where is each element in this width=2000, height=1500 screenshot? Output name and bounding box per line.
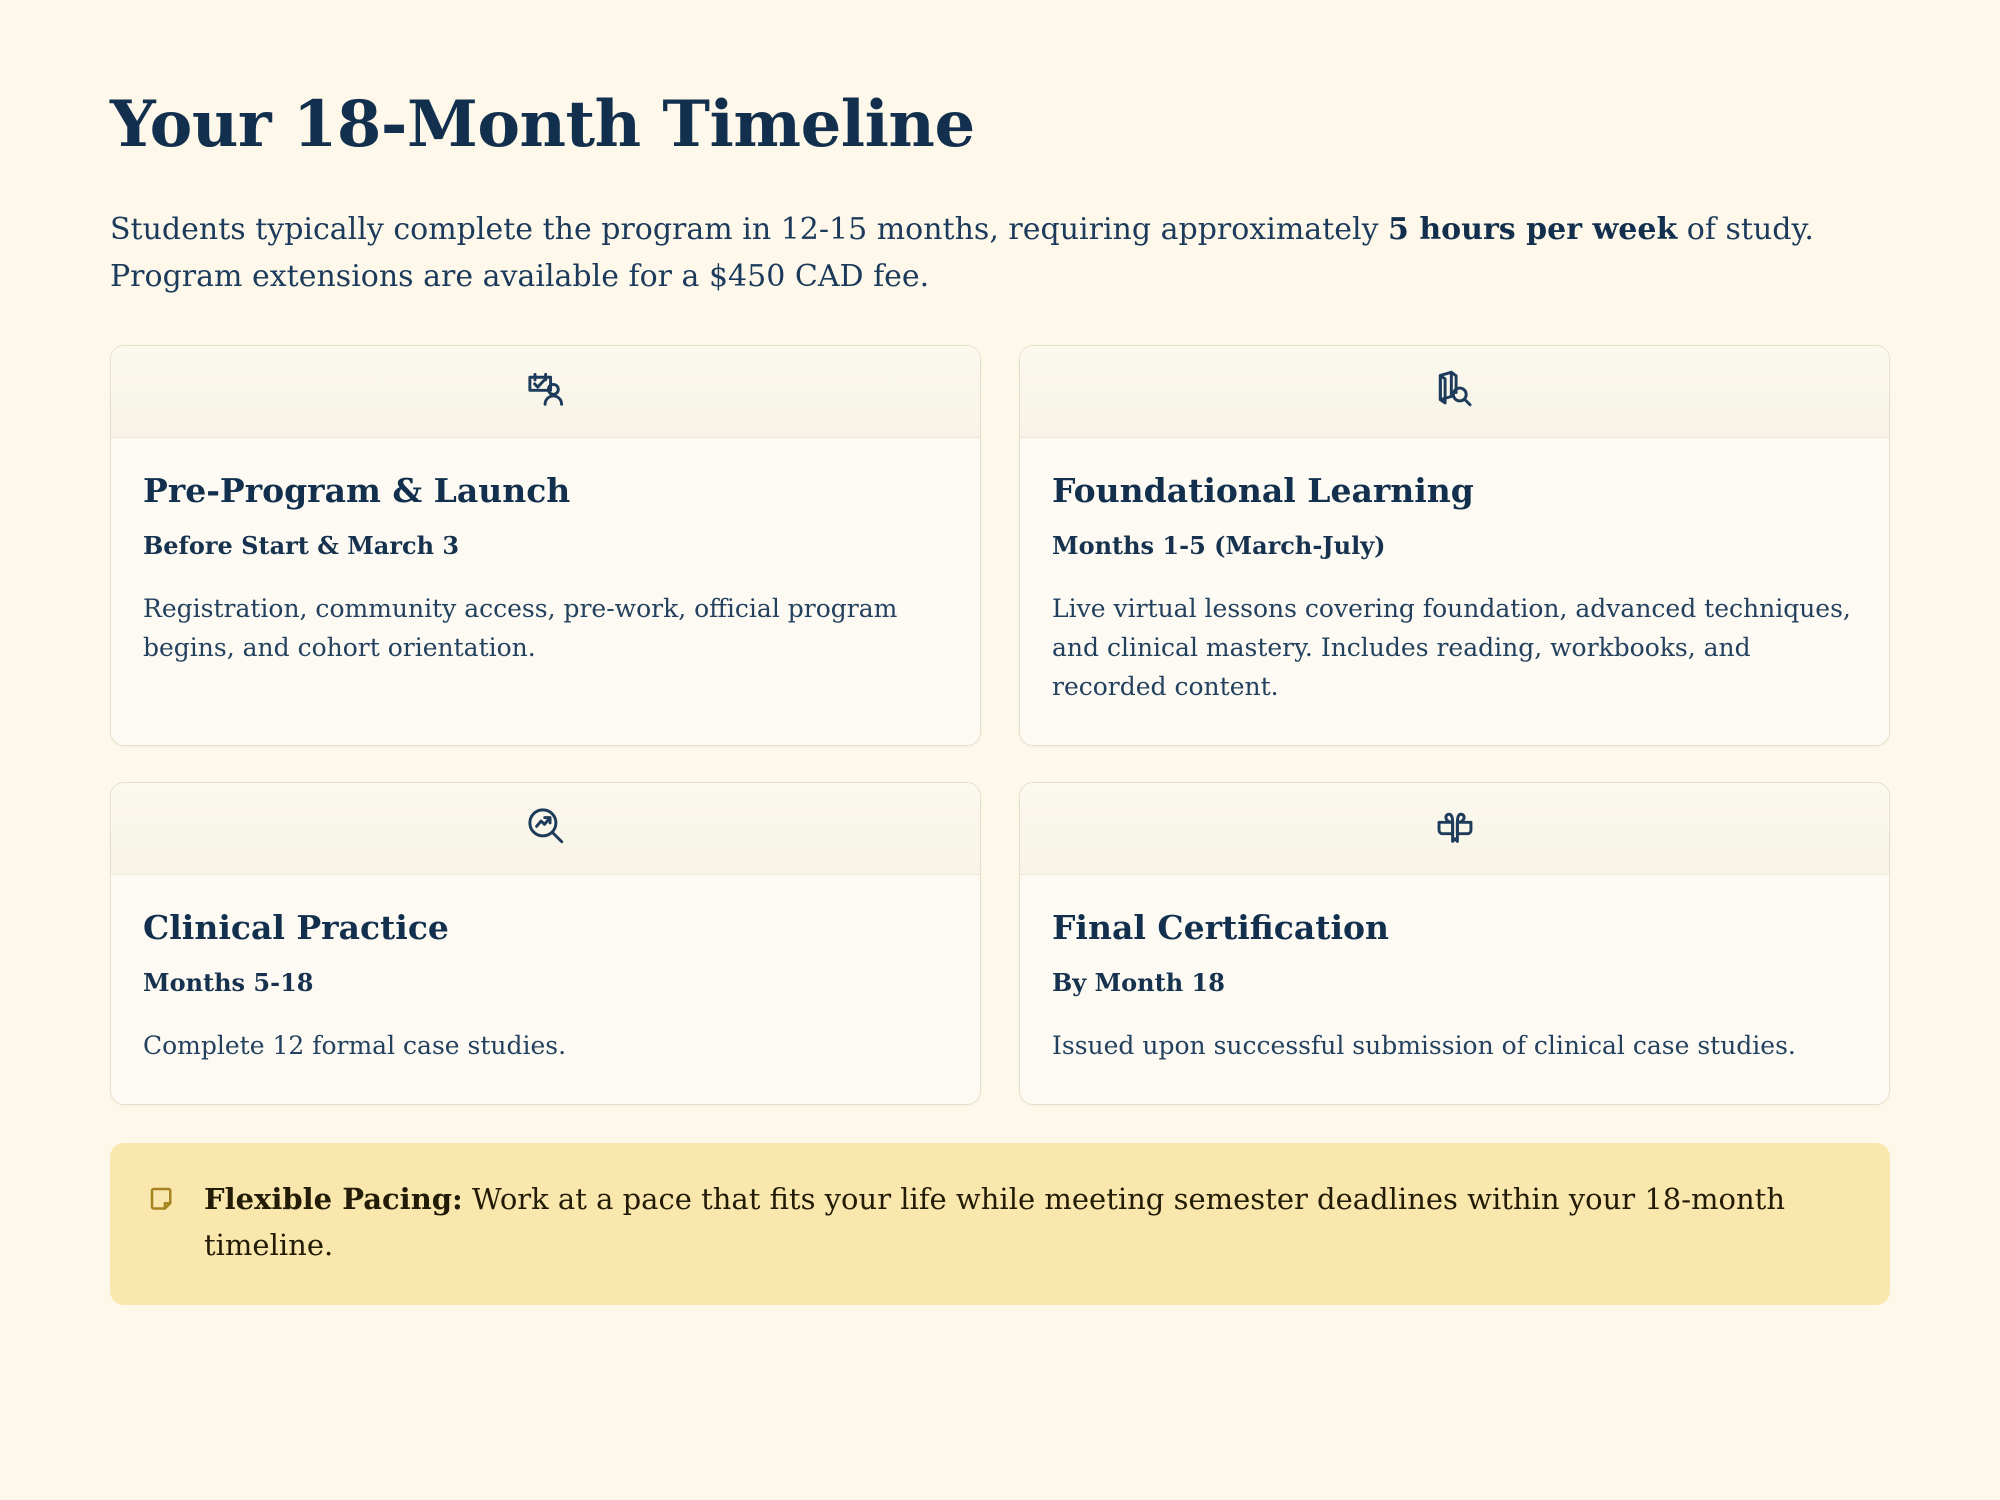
flexible-pacing-callout: Flexible Pacing: Work at a pace that fit… [110, 1143, 1890, 1305]
timeline-page: Your 18-Month Timeline Students typicall… [0, 0, 2000, 1500]
timeline-card-grid: Pre-Program & Launch Before Start & Marc… [110, 345, 1890, 1105]
card-description: Live virtual lessons covering foundation… [1052, 590, 1857, 706]
search-analytics-icon [524, 804, 568, 852]
card-period: Months 5-18 [143, 969, 948, 998]
card-description: Issued upon successful submission of cli… [1052, 1027, 1857, 1066]
timeline-card[interactable]: Foundational Learning Months 1-5 (March-… [1019, 345, 1890, 746]
timeline-card[interactable]: Clinical Practice Months 5-18 Complete 1… [110, 782, 981, 1105]
card-title: Foundational Learning [1052, 472, 1857, 510]
timeline-card[interactable]: Pre-Program & Launch Before Start & Marc… [110, 345, 981, 746]
intro-highlight: 5 hours per week [1388, 212, 1677, 247]
sticky-note-icon [148, 1185, 178, 1219]
card-body: Foundational Learning Months 1-5 (March-… [1020, 438, 1889, 745]
card-body: Pre-Program & Launch Before Start & Marc… [111, 438, 980, 745]
card-title: Final Certification [1052, 909, 1857, 947]
award-ribbon-icon [1433, 804, 1477, 852]
card-body: Clinical Practice Months 5-18 Complete 1… [111, 875, 980, 1104]
card-body: Final Certification By Month 18 Issued u… [1020, 875, 1889, 1104]
card-icon-band [111, 783, 980, 875]
calendar-user-check-icon [524, 367, 568, 415]
card-icon-band [1020, 783, 1889, 875]
intro-text-before: Students typically complete the program … [110, 212, 1388, 247]
timeline-card[interactable]: Final Certification By Month 18 Issued u… [1019, 782, 1890, 1105]
intro-paragraph: Students typically complete the program … [110, 207, 1850, 301]
card-period: Before Start & March 3 [143, 532, 948, 561]
book-search-icon [1433, 367, 1477, 415]
page-title: Your 18-Month Timeline [110, 90, 1890, 159]
card-icon-band [1020, 346, 1889, 438]
card-period: Months 1-5 (March-July) [1052, 532, 1857, 561]
card-description: Complete 12 formal case studies. [143, 1027, 948, 1066]
card-icon-band [111, 346, 980, 438]
callout-text: Flexible Pacing: Work at a pace that fit… [204, 1177, 1844, 1269]
callout-label: Flexible Pacing: [204, 1182, 463, 1216]
card-title: Pre-Program & Launch [143, 472, 948, 510]
card-period: By Month 18 [1052, 969, 1857, 998]
card-description: Registration, community access, pre-work… [143, 590, 948, 668]
card-title: Clinical Practice [143, 909, 948, 947]
